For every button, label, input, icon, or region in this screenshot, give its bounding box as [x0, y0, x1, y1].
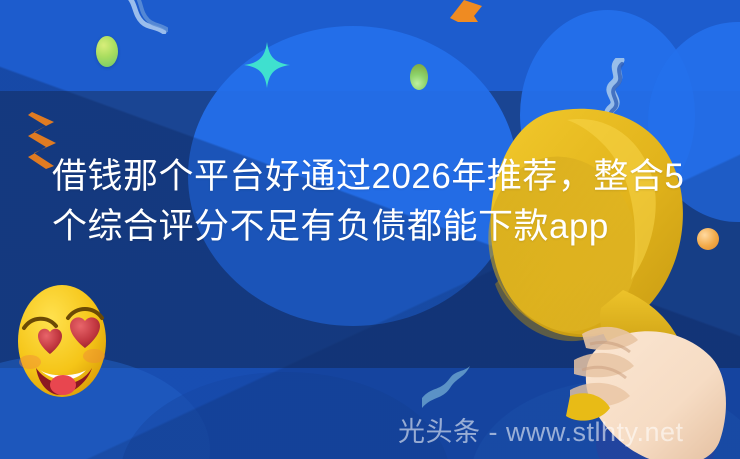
- background-band-top: [0, 0, 740, 91]
- watermark: 光头条 - www.stlhty.net: [398, 410, 684, 449]
- promo-poster: 借钱那个平台好通过2026年推荐，整合5个综合评分不足有负债都能下款app 光头…: [0, 0, 740, 459]
- page-title: 借钱那个平台好通过2026年推荐，整合5个综合评分不足有负债都能下款app: [52, 152, 702, 252]
